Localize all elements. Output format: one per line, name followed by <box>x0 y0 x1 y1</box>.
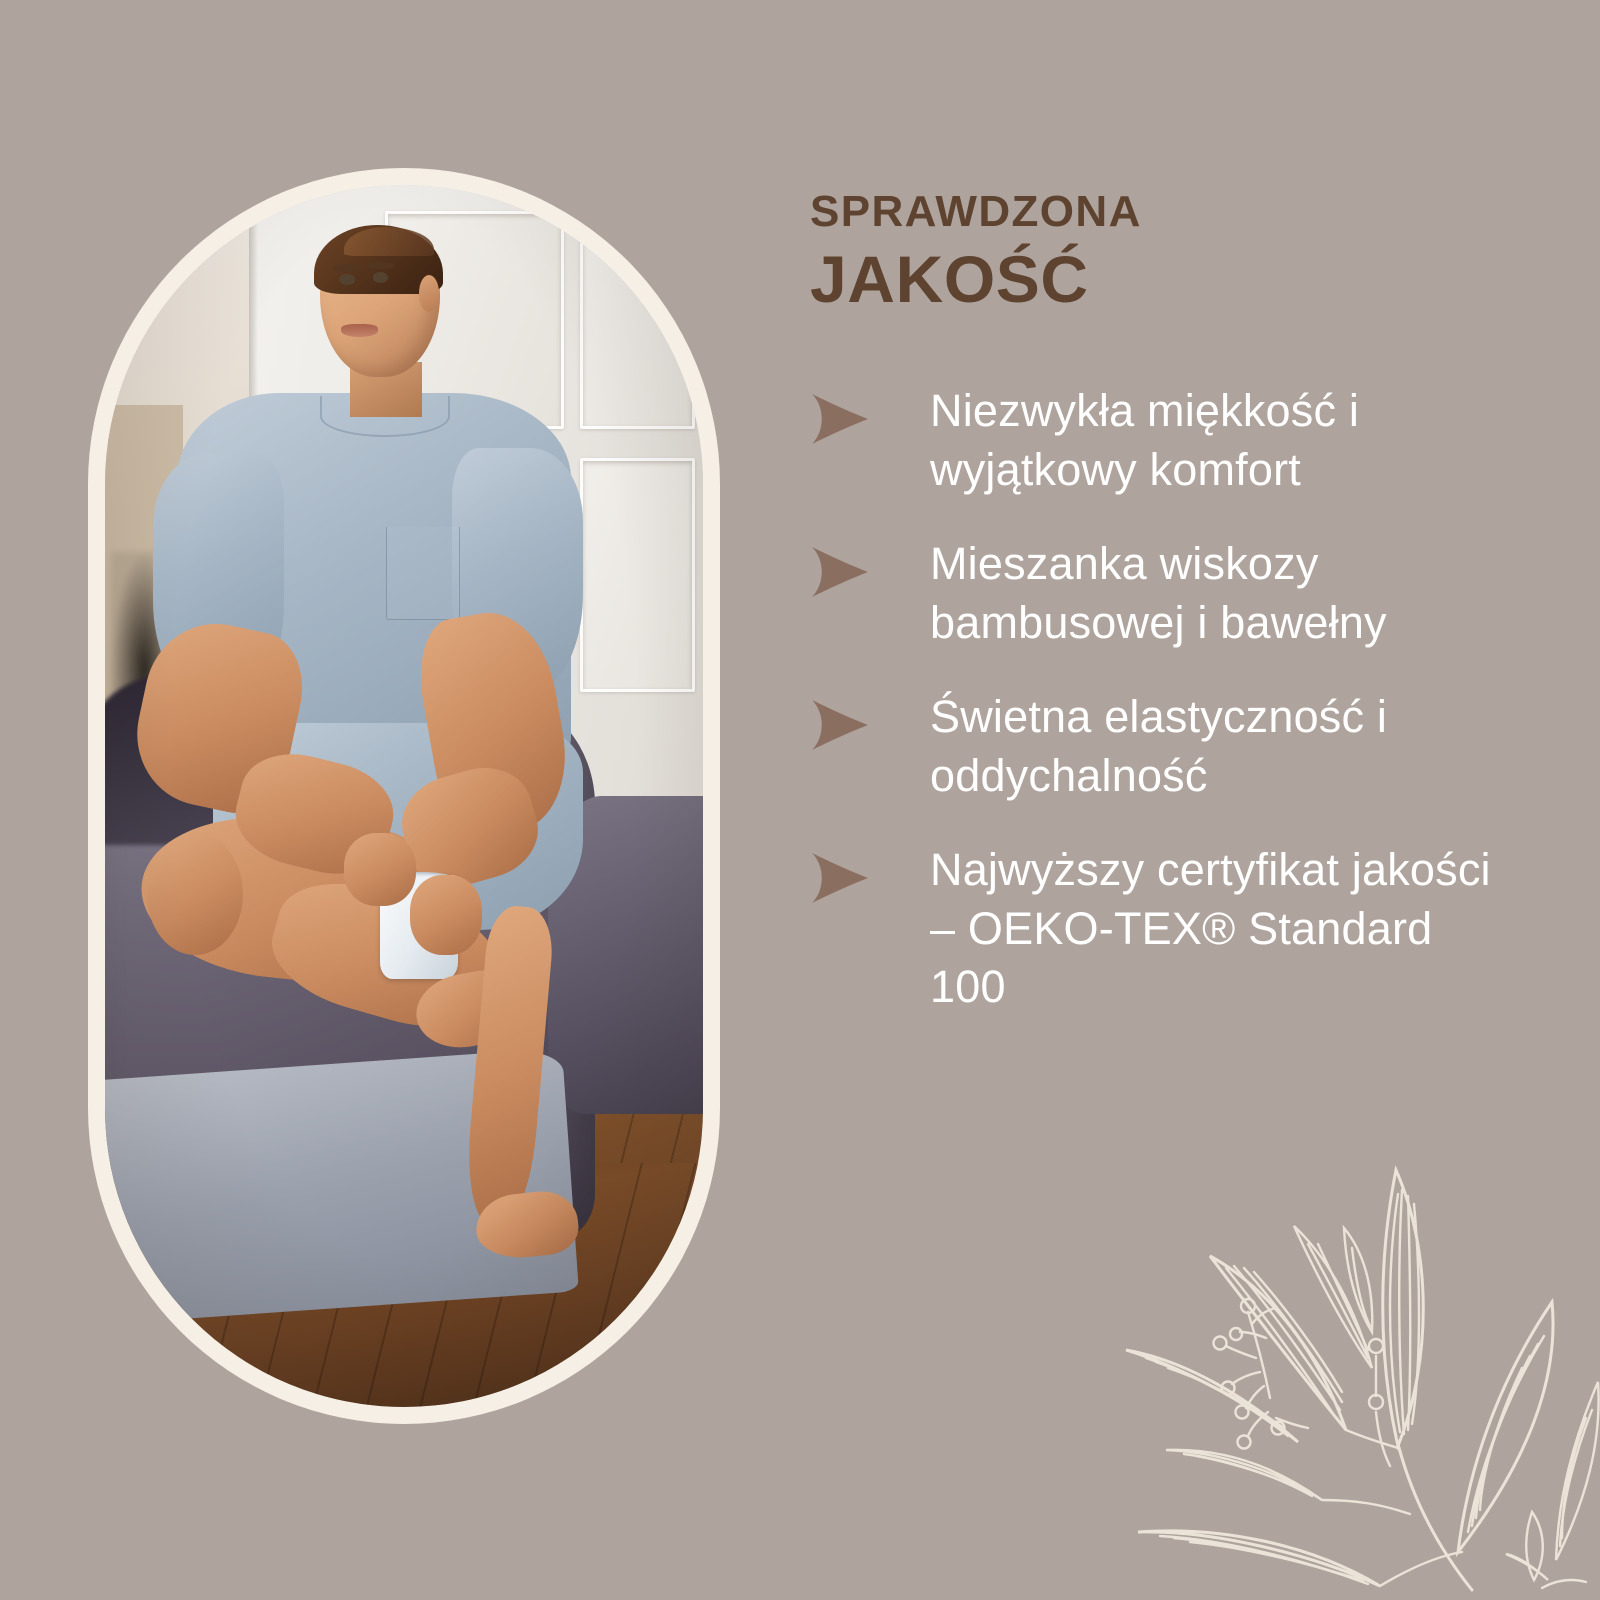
eye-right <box>373 272 389 282</box>
poster-canvas: SPRAWDZONA JAKOŚĆ Niezwykła miękkość i w… <box>0 0 1600 1600</box>
list-item-label: Niezwykła miękkość i wyjątkowy komfort <box>930 382 1506 499</box>
arrow-right-icon <box>806 390 872 448</box>
list-item: Niezwykła miękkość i wyjątkowy komfort <box>806 382 1506 499</box>
chest-pocket <box>386 527 460 620</box>
lifestyle-photo <box>105 185 703 1407</box>
eyebrow-left <box>333 264 359 271</box>
list-item-label: Świetna elastyczność i oddychalność <box>930 688 1506 805</box>
feature-list: Niezwykła miękkość i wyjątkowy komfort M… <box>806 382 1506 1017</box>
heading-eyebrow: SPRAWDZONA <box>810 186 1500 237</box>
arrow-right-icon <box>806 543 872 601</box>
hand-left <box>344 833 416 906</box>
mouth <box>341 324 378 336</box>
list-item: Mieszanka wiskozy bambusowej i bawełny <box>806 535 1506 652</box>
photo-frame <box>88 168 720 1424</box>
page-title: JAKOŚĆ <box>810 243 1500 316</box>
arrow-right-icon <box>806 696 872 754</box>
eye-left <box>339 274 355 284</box>
arrow-right-icon <box>806 849 872 907</box>
hand-right <box>410 875 482 954</box>
list-item-label: Najwyższy certyfikat jakości – OEKO-TEX®… <box>930 841 1506 1017</box>
list-item: Najwyższy certyfikat jakości – OEKO-TEX®… <box>806 841 1506 1017</box>
heading-block: SPRAWDZONA JAKOŚĆ <box>810 186 1500 316</box>
photo-capsule <box>105 185 703 1407</box>
list-item-label: Mieszanka wiskozy bambusowej i bawełny <box>930 535 1506 652</box>
door-panel <box>580 211 695 428</box>
botanical-line-art-icon <box>1080 1160 1600 1600</box>
knee <box>147 833 243 955</box>
eyebrow-right <box>368 262 394 269</box>
list-item: Świetna elastyczność i oddychalność <box>806 688 1506 805</box>
door-panel <box>580 458 695 693</box>
